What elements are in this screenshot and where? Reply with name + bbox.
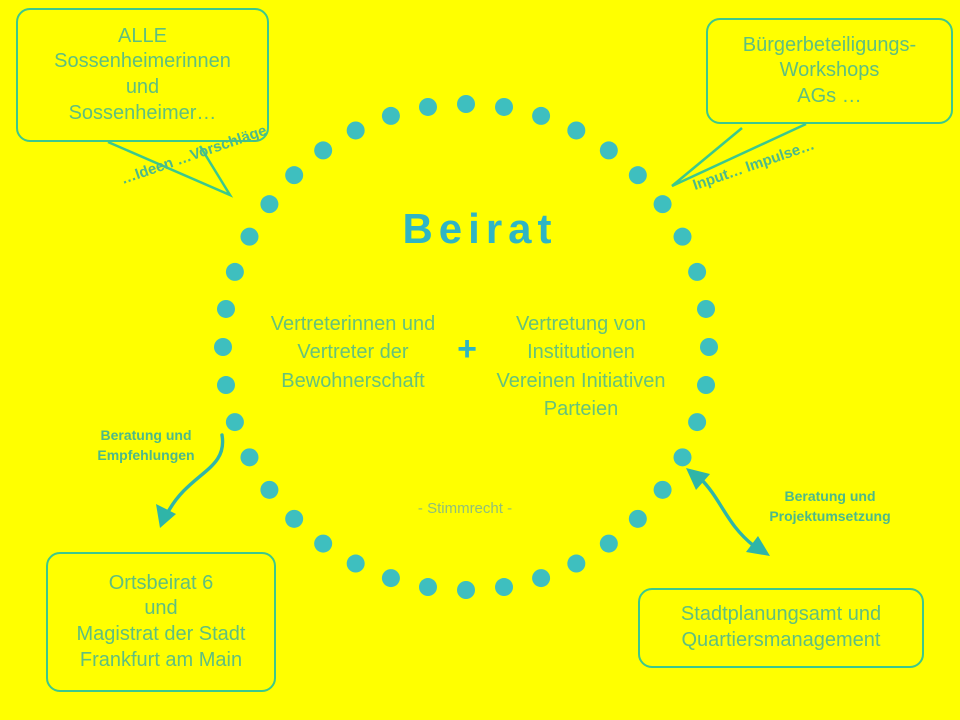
ring-dot: [382, 107, 400, 125]
ring-dot: [697, 300, 715, 318]
box-ortsbeirat-line-1: Ortsbeirat 6: [48, 571, 274, 597]
box-ortsbeirat-line-4: Frankfurt am Main: [48, 648, 274, 674]
ring-dot: [457, 581, 475, 599]
ring-dot: [532, 569, 550, 587]
page-title: Beirat: [0, 205, 960, 253]
box-stadtplanung: Stadtplanungsamt und Quartiersmanagement: [638, 588, 924, 668]
ring-dot: [654, 481, 672, 499]
bubble-citizens-line-4: Sossenheimer…: [18, 101, 267, 127]
ring-dot: [226, 413, 244, 431]
diagram-canvas: ALLE Sossenheimerinnen und Sossenheimer……: [0, 0, 960, 720]
col-left-line-3: der: [380, 341, 409, 363]
ring-dot: [567, 121, 585, 139]
speech-bubble-citizens: ALLE Sossenheimerinnen und Sossenheimer…: [16, 8, 269, 142]
label-input-line-1: Input…: [691, 161, 745, 194]
speech-bubble-workshops: Bürgerbeteiligungs- Workshops AGs …: [706, 18, 953, 124]
ring-dot: [600, 141, 618, 159]
ring-dot: [697, 376, 715, 394]
bubble-citizens-line-3: und: [18, 75, 267, 101]
col-left-line-4: Bewohnerschaft: [281, 370, 424, 392]
label-beratung-projekt-line-2: Projektumsetzung: [769, 508, 890, 524]
col-right-line-1: Vertretung: [516, 313, 608, 335]
box-ortsbeirat: Ortsbeirat 6 und Magistrat der Stadt Fra…: [46, 552, 276, 692]
ring-dot: [700, 338, 718, 356]
box-stadtplanung-line-2: Quartiersmanagement: [640, 628, 922, 654]
ring-dot: [226, 263, 244, 281]
council-members-residents: Vertreterinnen und Vertreter der Bewohne…: [258, 310, 448, 395]
ring-dot: [314, 535, 332, 553]
ring-dot: [419, 98, 437, 116]
council-members-institutions: Vertretung von Institutionen Vereinen In…: [486, 310, 676, 424]
ring-dot: [285, 510, 303, 528]
ring-dot: [217, 300, 235, 318]
label-beratung-empfehlungen-line-1: Beratung und: [101, 427, 192, 443]
bubble-workshops-line-3: AGs …: [708, 84, 951, 110]
label-input-line-2: Impulse…: [743, 136, 816, 175]
label-beratung-projekt-line-1: Beratung und: [785, 488, 876, 504]
bubble-workshops-line-1: Bürgerbeteiligungs-: [708, 33, 951, 59]
col-right-line-5: Initiativen: [581, 370, 666, 392]
ring-dot: [688, 263, 706, 281]
ring-dot: [347, 121, 365, 139]
bubble-workshops-line-2: Workshops: [708, 58, 951, 84]
ring-dot: [457, 95, 475, 113]
ring-dot: [629, 510, 647, 528]
ring-dot: [532, 107, 550, 125]
ring-dot: [419, 578, 437, 596]
col-right-line-2: von: [614, 313, 646, 335]
bubble-citizens-line-2: Sossenheimerinnen: [18, 49, 267, 75]
ring-dot: [600, 535, 618, 553]
label-ideen-line-1: …Ideen: [119, 154, 176, 188]
voting-rights-note: - Stimmrecht -: [330, 500, 600, 517]
box-stadtplanung-line-1: Stadtplanungsamt und: [640, 602, 922, 628]
ring-dot: [674, 448, 692, 466]
ring-dot: [382, 569, 400, 587]
ring-dot: [214, 338, 232, 356]
ring-dot: [688, 413, 706, 431]
box-ortsbeirat-line-3: Magistrat der Stadt: [48, 622, 274, 648]
box-ortsbeirat-line-2: und: [48, 596, 274, 622]
col-left-line-1: Vertreterinnen: [271, 313, 397, 335]
ring-dot: [629, 166, 647, 184]
ring-dot: [260, 481, 278, 499]
ring-dot: [495, 98, 513, 116]
ring-dot: [314, 141, 332, 159]
bubble-citizens-line-1: ALLE: [18, 24, 267, 50]
col-right-line-3: Institutionen: [527, 341, 635, 363]
ring-dot: [567, 555, 585, 573]
label-beratung-projektumsetzung: Beratung und Projektumsetzung: [746, 486, 914, 527]
ring-dot: [347, 555, 365, 573]
label-beratung-empfehlungen-line-2: Empfehlungen: [97, 447, 194, 463]
ring-dot: [240, 448, 258, 466]
label-beratung-empfehlungen: Beratung und Empfehlungen: [78, 425, 214, 466]
col-right-line-4: Vereinen: [496, 370, 575, 392]
ring-dot: [495, 578, 513, 596]
ring-dot: [217, 376, 235, 394]
ring-dot: [285, 166, 303, 184]
col-right-line-6: Parteien: [544, 398, 619, 420]
label-input-impulse: Input… Impulse…: [690, 134, 818, 196]
